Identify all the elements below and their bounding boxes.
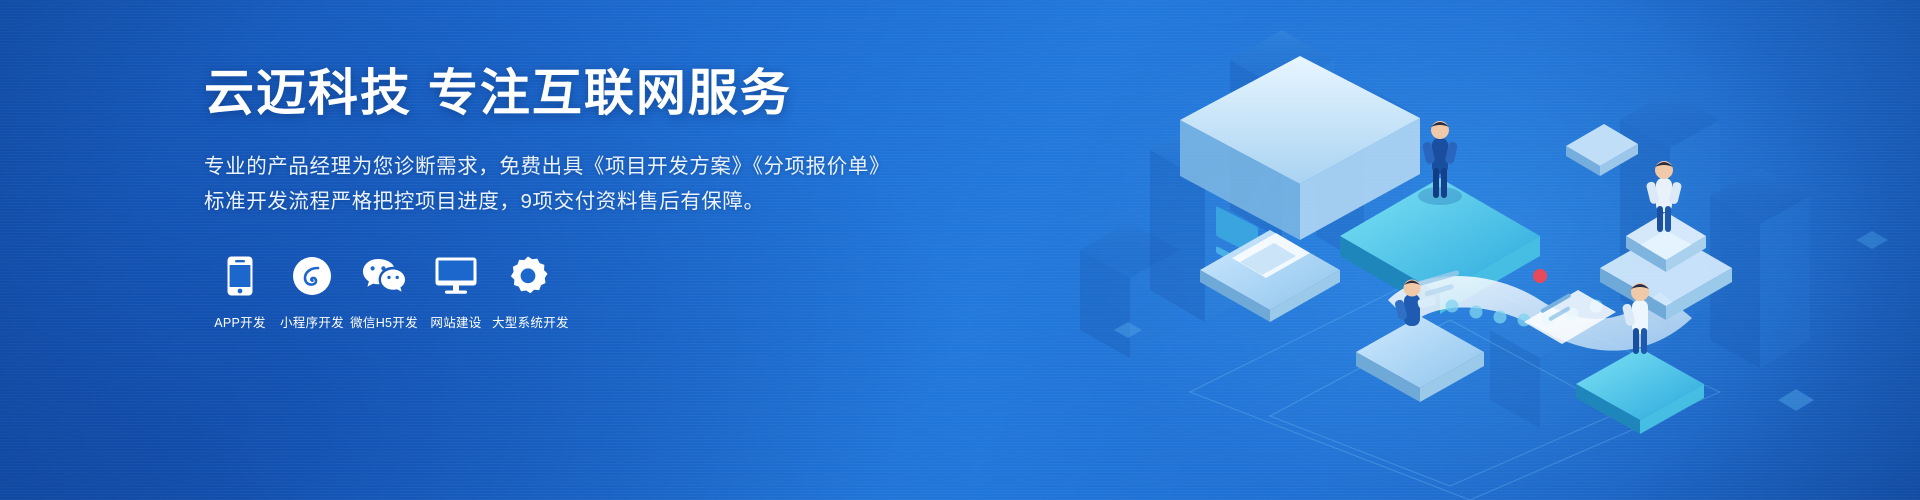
illustration-isometric-team-dashboard bbox=[1020, 0, 1920, 500]
banner-subtitle: 专业的产品经理为您诊断需求，免费出具《项目开发方案》《分项报价单》 标准开发流程… bbox=[204, 149, 964, 220]
monitor-icon bbox=[420, 254, 492, 298]
wechat-icon bbox=[348, 254, 420, 298]
service-item-wechat-h5[interactable]: 微信H5开发 bbox=[348, 254, 420, 331]
subtitle-line-1: 专业的产品经理为您诊断需求，免费出具《项目开发方案》《分项报价单》 bbox=[204, 149, 964, 184]
subtitle-line-2: 标准开发流程严格把控项目进度，9项交付资料售后有保障。 bbox=[204, 184, 964, 219]
service-item-large-system[interactable]: 大型系统开发 bbox=[492, 254, 564, 331]
service-label: 微信H5开发 bbox=[348, 312, 420, 331]
hero-banner: 云迈科技 专注互联网服务 专业的产品经理为您诊断需求，免费出具《项目开发方案》《… bbox=[0, 0, 1920, 500]
service-list: APP开发 小程序开发 bbox=[204, 254, 964, 331]
service-label: 小程序开发 bbox=[276, 312, 348, 331]
service-item-app[interactable]: APP开发 bbox=[204, 254, 276, 331]
mobile-phone-icon bbox=[204, 254, 276, 298]
gear-icon bbox=[492, 254, 564, 298]
mini-program-icon bbox=[276, 254, 348, 298]
service-item-website[interactable]: 网站建设 bbox=[420, 254, 492, 331]
service-label: 大型系统开发 bbox=[492, 312, 564, 331]
page-title: 云迈科技 专注互联网服务 bbox=[204, 64, 964, 123]
service-label: 网站建设 bbox=[420, 312, 492, 331]
service-label: APP开发 bbox=[204, 312, 276, 331]
service-item-miniprogram[interactable]: 小程序开发 bbox=[276, 254, 348, 331]
banner-content: 云迈科技 专注互联网服务 专业的产品经理为您诊断需求，免费出具《项目开发方案》《… bbox=[204, 64, 964, 331]
